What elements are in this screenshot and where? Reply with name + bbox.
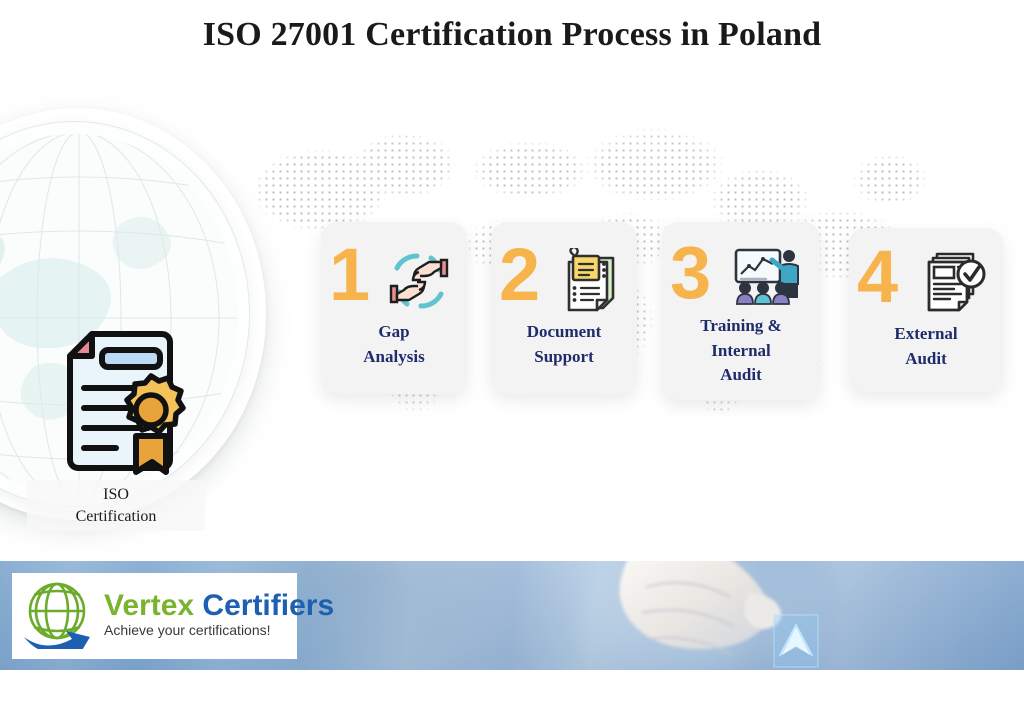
brand-text: Vertex Certifiers Achieve your certifica… (104, 590, 334, 639)
infographic-canvas: ISO 27001 Certification Process in Polan… (0, 0, 1024, 724)
step-2-label: Document Support (491, 320, 637, 369)
step-1-number: 1 (329, 238, 370, 312)
brand-logo[interactable]: Vertex Certifiers Achieve your certifica… (12, 573, 297, 659)
step-card-2[interactable]: 2 (491, 222, 637, 394)
step-4-header: 4 (849, 228, 1003, 324)
step-1-header: 1 (321, 222, 467, 318)
step-4-label-line-2: Audit (905, 349, 947, 368)
step-card-4[interactable]: 4 (849, 228, 1003, 392)
step-card-1[interactable]: 1 Gap Analysis (321, 222, 467, 394)
globe-arrow-logo-icon (20, 579, 98, 654)
step-2-header: 2 (491, 222, 637, 318)
step-2-number: 2 (499, 238, 540, 312)
certificate-document-icon (40, 320, 190, 485)
step-3-label-line-3: Audit (720, 365, 762, 384)
glowing-arrow-icon (770, 613, 826, 670)
documents-checkmark-icon (923, 250, 989, 319)
step-3-label: Training & Internal Audit (662, 314, 820, 388)
step-3-header: 3 (662, 222, 820, 318)
step-4-label-line-1: External (894, 324, 957, 343)
step-3-label-line-1: Training & (700, 316, 781, 335)
brand-name: Vertex Certifiers (104, 590, 334, 622)
step-3-number: 3 (670, 236, 711, 310)
brand-tagline: Achieve your certifications! (104, 623, 334, 638)
brand-name-first: Vertex (104, 589, 194, 622)
document-stack-icon (559, 248, 621, 317)
handshake-puzzle-icon (383, 246, 455, 321)
iso-certification-badge: ISO Certification (0, 108, 278, 528)
step-2-label-line-2: Support (534, 347, 594, 366)
training-presentation-icon (732, 246, 802, 315)
step-1-label-line-1: Gap (378, 322, 409, 341)
brand-name-second: Certifiers (202, 589, 334, 622)
iso-certification-label: ISO Certification (27, 480, 205, 531)
step-2-label-line-1: Document (527, 322, 602, 341)
page-title: ISO 27001 Certification Process in Polan… (0, 16, 1024, 54)
step-4-label: External Audit (849, 322, 1003, 371)
step-card-3[interactable]: 3 (662, 222, 820, 400)
iso-label-line-1: ISO (103, 486, 129, 503)
step-4-number: 4 (857, 240, 898, 314)
step-3-label-line-2: Internal (711, 341, 771, 360)
step-1-label-line-2: Analysis (363, 347, 424, 366)
iso-label-line-2: Certification (76, 508, 157, 525)
step-1-label: Gap Analysis (321, 320, 467, 369)
